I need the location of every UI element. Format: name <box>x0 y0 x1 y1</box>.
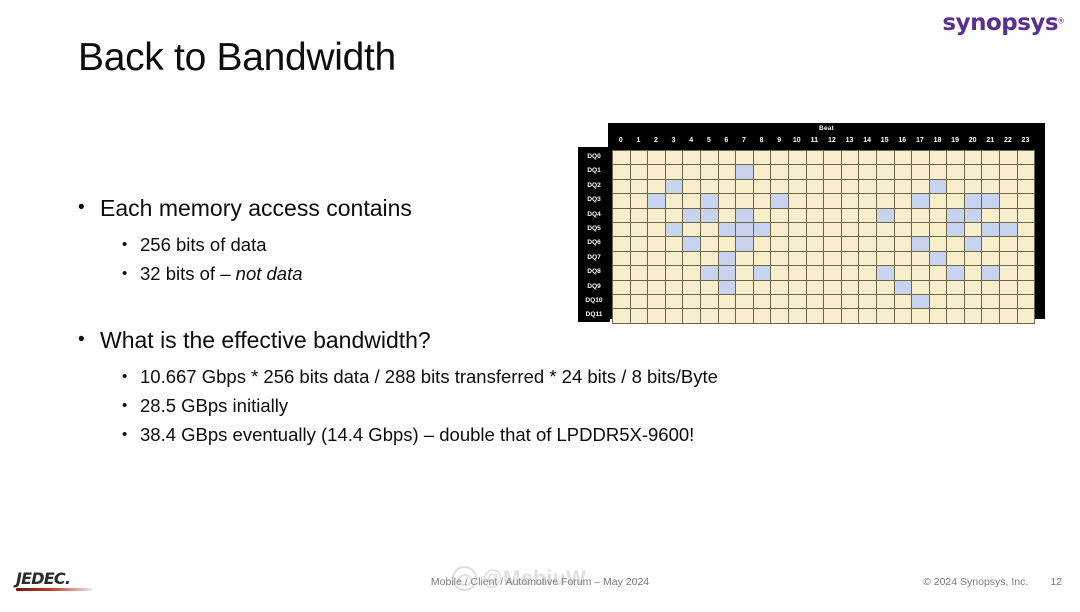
grid-cell <box>666 151 684 165</box>
grid-cell <box>947 151 965 165</box>
bullet-level1: • What is the effective bandwidth? <box>78 324 868 356</box>
grid-cell <box>982 295 1000 309</box>
grid-cell <box>771 180 789 194</box>
grid-cell <box>947 295 965 309</box>
bullet-level2: • 38.4 GBps eventually (14.4 Gbps) – dou… <box>78 420 868 449</box>
grid-cell <box>895 309 913 323</box>
grid-cell <box>789 237 807 251</box>
grid-cell <box>877 237 895 251</box>
grid-cell <box>1018 151 1036 165</box>
dq-row-label-DQ1: DQ1 <box>578 164 610 178</box>
grid-cell <box>631 252 649 266</box>
grid-cell <box>859 281 877 295</box>
grid-cell <box>1018 281 1036 295</box>
grid-cell <box>719 194 737 208</box>
grid-cell <box>683 180 701 194</box>
grid-cell <box>754 281 772 295</box>
grid-cell <box>842 309 860 323</box>
grid-cell <box>1000 295 1018 309</box>
grid-cell <box>631 309 649 323</box>
jedec-underline <box>16 588 92 591</box>
grid-cell <box>824 252 842 266</box>
grid-cell <box>965 252 983 266</box>
beat-column-label-18: 18 <box>929 137 947 144</box>
grid-cell <box>613 266 631 280</box>
grid-row-DQ10 <box>613 295 1035 309</box>
grid-cell <box>807 252 825 266</box>
grid-cell <box>1000 266 1018 280</box>
grid-cell <box>1000 281 1018 295</box>
grid-cell <box>736 237 754 251</box>
grid-cell <box>982 180 1000 194</box>
grid-cell <box>736 309 754 323</box>
grid-cell <box>648 180 666 194</box>
grid-cell <box>719 209 737 223</box>
grid-cell <box>613 165 631 179</box>
grid-cell <box>613 223 631 237</box>
bullet-level2-text: 10.667 Gbps * 256 bits data / 288 bits t… <box>140 362 718 391</box>
grid-cell <box>613 252 631 266</box>
grid-cell <box>912 165 930 179</box>
grid-cell <box>719 252 737 266</box>
grid-cell <box>965 165 983 179</box>
grid-cell <box>824 194 842 208</box>
beat-column-label-12: 12 <box>823 137 841 144</box>
grid-cell <box>683 252 701 266</box>
grid-cell <box>807 165 825 179</box>
beat-column-label-23: 23 <box>1017 137 1035 144</box>
grid-cell <box>965 295 983 309</box>
grid-cell <box>1018 209 1036 223</box>
grid-cell <box>648 165 666 179</box>
grid-cell <box>683 295 701 309</box>
grid-cell <box>719 165 737 179</box>
bullet-level1-text: Each memory access contains <box>100 192 412 224</box>
grid-cell <box>631 209 649 223</box>
grid-cell <box>807 223 825 237</box>
grid-cell <box>859 295 877 309</box>
grid-cell <box>859 252 877 266</box>
bullet-level2: • 10.667 Gbps * 256 bits data / 288 bits… <box>78 362 868 391</box>
footer-right-group: © 2024 Synopsys, Inc. 12 <box>923 576 1062 588</box>
grid-cell <box>1000 180 1018 194</box>
grid-row-DQ3 <box>613 194 1035 208</box>
bullet-glyph-icon: • <box>78 324 100 356</box>
grid-cell <box>683 281 701 295</box>
grid-cell <box>701 223 719 237</box>
grid-cell <box>1018 237 1036 251</box>
grid-cell <box>859 209 877 223</box>
bullet-glyph-icon: • <box>122 230 140 259</box>
grid-row-DQ11 <box>613 309 1035 323</box>
grid-cell <box>789 252 807 266</box>
grid-cell <box>789 223 807 237</box>
grid-cell <box>736 295 754 309</box>
grid-cell <box>1018 266 1036 280</box>
dq-row-label-DQ0: DQ0 <box>578 150 610 164</box>
bullet-level1-text: What is the effective bandwidth? <box>100 324 431 356</box>
grid-cell <box>789 281 807 295</box>
grid-cell <box>859 180 877 194</box>
grid-cell <box>1000 223 1018 237</box>
grid-cell <box>895 295 913 309</box>
dq-row-label-DQ7: DQ7 <box>578 251 610 265</box>
grid-cell <box>771 237 789 251</box>
grid-cell <box>842 194 860 208</box>
footer-event-text: Mobile / Client / Automotive Forum – May… <box>0 576 1080 588</box>
grid-cell <box>912 252 930 266</box>
grid-cell <box>666 209 684 223</box>
grid-cell <box>877 223 895 237</box>
grid-cell <box>1000 252 1018 266</box>
grid-cell <box>648 237 666 251</box>
beat-column-label-17: 17 <box>911 137 929 144</box>
grid-cell <box>842 266 860 280</box>
grid-cell <box>666 165 684 179</box>
bullet-glyph-icon: • <box>78 192 100 224</box>
grid-row-DQ7 <box>613 252 1035 266</box>
synopsys-logo: synopsys® <box>942 12 1064 35</box>
beat-column-label-11: 11 <box>806 137 824 144</box>
grid-cell <box>719 295 737 309</box>
grid-cell <box>736 151 754 165</box>
grid-cell <box>930 180 948 194</box>
grid-cell <box>877 281 895 295</box>
grid-cell <box>859 309 877 323</box>
grid-cell <box>947 266 965 280</box>
grid-cell <box>666 237 684 251</box>
grid-cell <box>965 223 983 237</box>
grid-cell <box>754 223 772 237</box>
beat-column-label-4: 4 <box>682 137 700 144</box>
grid-cell <box>895 209 913 223</box>
bullet-level2: • 28.5 GBps initially <box>78 391 868 420</box>
grid-cell <box>807 281 825 295</box>
grid-cell <box>631 266 649 280</box>
diagram-caption: Beat <box>608 125 1045 132</box>
grid-cell <box>701 309 719 323</box>
grid-cell <box>947 309 965 323</box>
beat-column-label-7: 7 <box>735 137 753 144</box>
grid-cell <box>648 295 666 309</box>
grid-cell <box>824 266 842 280</box>
grid-cell <box>736 165 754 179</box>
dq-row-label-DQ9: DQ9 <box>578 280 610 294</box>
grid-cell <box>631 281 649 295</box>
grid-cell <box>947 180 965 194</box>
grid-cell <box>683 309 701 323</box>
grid-cell <box>877 252 895 266</box>
grid-cell <box>824 237 842 251</box>
grid-cell <box>877 165 895 179</box>
grid-cell <box>701 180 719 194</box>
grid-cell <box>613 180 631 194</box>
grid-cell <box>666 281 684 295</box>
bullet-level2-text: 28.5 GBps initially <box>140 391 288 420</box>
grid-cell <box>807 309 825 323</box>
grid-row-DQ4 <box>613 209 1035 223</box>
grid-cell <box>631 237 649 251</box>
grid-cell <box>736 252 754 266</box>
grid-cell <box>895 180 913 194</box>
grid-cell <box>666 309 684 323</box>
grid-cell <box>736 180 754 194</box>
grid-cell <box>683 165 701 179</box>
grid-cell <box>965 237 983 251</box>
grid-cell <box>982 151 1000 165</box>
grid-row-DQ8 <box>613 266 1035 280</box>
dq-row-label-DQ3: DQ3 <box>578 193 610 207</box>
grid-cell <box>824 165 842 179</box>
grid-cell <box>666 266 684 280</box>
grid-cell <box>895 266 913 280</box>
grid-cell <box>877 266 895 280</box>
beat-column-label-0: 0 <box>612 137 630 144</box>
grid-cell <box>947 252 965 266</box>
grid-cell <box>631 295 649 309</box>
dq-row-label-DQ4: DQ4 <box>578 208 610 222</box>
grid-cell <box>877 209 895 223</box>
grid-cell <box>912 223 930 237</box>
grid-cell <box>912 295 930 309</box>
grid-cell <box>683 223 701 237</box>
grid-cell <box>631 151 649 165</box>
grid-cell <box>771 309 789 323</box>
grid-cell <box>771 266 789 280</box>
footer-divider <box>0 556 1080 557</box>
grid-cell <box>771 209 789 223</box>
grid-cell <box>842 165 860 179</box>
grid-cell <box>719 309 737 323</box>
grid-cell <box>982 252 1000 266</box>
grid-cell <box>930 252 948 266</box>
grid-cell <box>1000 151 1018 165</box>
grid-cell <box>789 180 807 194</box>
grid-cell <box>631 180 649 194</box>
grid-cell <box>683 209 701 223</box>
grid-cell <box>771 223 789 237</box>
grid-cell <box>982 281 1000 295</box>
grid-cell <box>1018 180 1036 194</box>
grid-cell <box>754 151 772 165</box>
grid-cell <box>877 194 895 208</box>
grid-cell <box>666 295 684 309</box>
beat-column-label-10: 10 <box>788 137 806 144</box>
grid-cell <box>965 194 983 208</box>
beat-column-label-22: 22 <box>999 137 1017 144</box>
bullet-glyph-icon: • <box>122 259 140 288</box>
bullet-glyph-icon: • <box>122 420 140 449</box>
grid-cell <box>982 209 1000 223</box>
grid-cell <box>859 237 877 251</box>
beat-column-label-1: 1 <box>630 137 648 144</box>
grid-cell <box>683 151 701 165</box>
grid-cell <box>631 194 649 208</box>
grid-cell <box>807 194 825 208</box>
grid-cell <box>789 151 807 165</box>
beat-column-label-2: 2 <box>647 137 665 144</box>
grid-cell <box>648 309 666 323</box>
beat-column-label-8: 8 <box>753 137 771 144</box>
beat-column-label-16: 16 <box>894 137 912 144</box>
grid-cell <box>1000 165 1018 179</box>
grid-cell <box>877 309 895 323</box>
grid-cell <box>754 237 772 251</box>
grid-cell <box>912 209 930 223</box>
grid-cell <box>982 223 1000 237</box>
grid-cell <box>719 223 737 237</box>
grid-cell <box>807 237 825 251</box>
grid-cell <box>701 252 719 266</box>
grid-cell <box>842 295 860 309</box>
grid-cell <box>1000 237 1018 251</box>
grid-cell <box>930 151 948 165</box>
grid-cell <box>859 165 877 179</box>
grid-cell <box>842 237 860 251</box>
grid-cell <box>947 165 965 179</box>
grid-cell <box>824 151 842 165</box>
grid-cell <box>754 209 772 223</box>
grid-cell <box>648 252 666 266</box>
grid-cell <box>807 295 825 309</box>
grid-cell <box>965 266 983 280</box>
dq-row-label-DQ6: DQ6 <box>578 236 610 250</box>
beat-column-label-21: 21 <box>981 137 999 144</box>
grid-row-DQ6 <box>613 237 1035 251</box>
beat-column-header: 01234567891011121314151617181920212223 <box>612 137 1034 144</box>
grid-cell <box>754 266 772 280</box>
bullet-level2-text: 256 bits of data <box>140 230 267 259</box>
grid-cell <box>754 309 772 323</box>
grid-cell <box>842 281 860 295</box>
grid-cell <box>754 194 772 208</box>
grid-cell <box>947 209 965 223</box>
grid-cell <box>807 266 825 280</box>
beat-column-label-3: 3 <box>665 137 683 144</box>
beat-dq-diagram: Beat 01234567891011121314151617181920212… <box>578 123 1046 323</box>
grid-cell <box>895 281 913 295</box>
grid-cell <box>701 151 719 165</box>
registered-trademark-icon: ® <box>1058 17 1064 26</box>
grid-cell <box>771 252 789 266</box>
grid-cell <box>982 194 1000 208</box>
grid-cell <box>842 151 860 165</box>
grid-cell <box>859 194 877 208</box>
bullet-block-effective-bandwidth: • What is the effective bandwidth? • 10.… <box>78 324 868 449</box>
grid-cell <box>701 266 719 280</box>
beat-column-label-15: 15 <box>876 137 894 144</box>
grid-cell <box>1000 194 1018 208</box>
grid-cell <box>877 295 895 309</box>
grid-cell <box>982 237 1000 251</box>
grid-cell <box>965 209 983 223</box>
grid-cell <box>842 252 860 266</box>
grid-cell <box>807 151 825 165</box>
grid-cell <box>701 237 719 251</box>
grid-row-DQ1 <box>613 165 1035 179</box>
synopsys-wordmark: synopsys <box>942 12 1058 35</box>
grid-cell <box>789 194 807 208</box>
bullet-level2-text: 38.4 GBps eventually (14.4 Gbps) – doubl… <box>140 420 694 449</box>
grid-cell <box>666 252 684 266</box>
bullet-level2-text: 32 bits of – not data <box>140 259 303 288</box>
bullet-level2-text-italic: not data <box>236 263 303 284</box>
grid-cell <box>982 165 1000 179</box>
grid-cell <box>982 309 1000 323</box>
bullet-glyph-icon: • <box>122 362 140 391</box>
grid-cell <box>631 165 649 179</box>
grid-cell <box>1018 295 1036 309</box>
grid-cell <box>771 151 789 165</box>
grid-cell <box>859 151 877 165</box>
grid-cell <box>719 266 737 280</box>
grid-cell <box>754 252 772 266</box>
grid-cell <box>877 180 895 194</box>
grid-cell <box>877 151 895 165</box>
grid-cell <box>736 209 754 223</box>
grid-cell <box>666 223 684 237</box>
beat-column-label-6: 6 <box>718 137 736 144</box>
grid-cell <box>824 295 842 309</box>
grid-cell <box>683 237 701 251</box>
grid-cell <box>789 295 807 309</box>
grid-cell <box>807 180 825 194</box>
grid-cell <box>701 165 719 179</box>
dq-row-label-DQ11: DQ11 <box>578 308 610 322</box>
grid-cell <box>824 223 842 237</box>
grid-cell <box>683 266 701 280</box>
grid-cell <box>666 180 684 194</box>
grid-cell <box>1018 223 1036 237</box>
grid-cell <box>648 281 666 295</box>
grid-cell <box>736 194 754 208</box>
beat-dq-grid <box>612 150 1035 324</box>
grid-cell <box>789 209 807 223</box>
grid-cell <box>859 223 877 237</box>
grid-cell <box>895 165 913 179</box>
grid-cell <box>613 194 631 208</box>
page-title: Back to Bandwidth <box>78 36 396 80</box>
grid-cell <box>912 309 930 323</box>
beat-column-label-19: 19 <box>946 137 964 144</box>
grid-cell <box>736 223 754 237</box>
grid-cell <box>613 309 631 323</box>
grid-cell <box>807 209 825 223</box>
grid-cell <box>1000 209 1018 223</box>
beat-column-label-9: 9 <box>770 137 788 144</box>
grid-cell <box>648 266 666 280</box>
grid-cell <box>701 281 719 295</box>
grid-cell <box>613 237 631 251</box>
grid-row-DQ9 <box>613 281 1035 295</box>
grid-cell <box>842 180 860 194</box>
grid-cell <box>666 194 684 208</box>
grid-cell <box>719 281 737 295</box>
dq-row-label-DQ10: DQ10 <box>578 294 610 308</box>
grid-cell <box>719 237 737 251</box>
grid-cell <box>947 281 965 295</box>
grid-cell <box>965 151 983 165</box>
grid-row-DQ2 <box>613 180 1035 194</box>
grid-cell <box>1000 309 1018 323</box>
grid-cell <box>912 266 930 280</box>
grid-cell <box>648 209 666 223</box>
bullet-glyph-icon: • <box>122 391 140 420</box>
footer-copyright: © 2024 Synopsys, Inc. <box>923 576 1028 588</box>
grid-cell <box>982 266 1000 280</box>
grid-cell <box>754 180 772 194</box>
grid-cell <box>930 266 948 280</box>
